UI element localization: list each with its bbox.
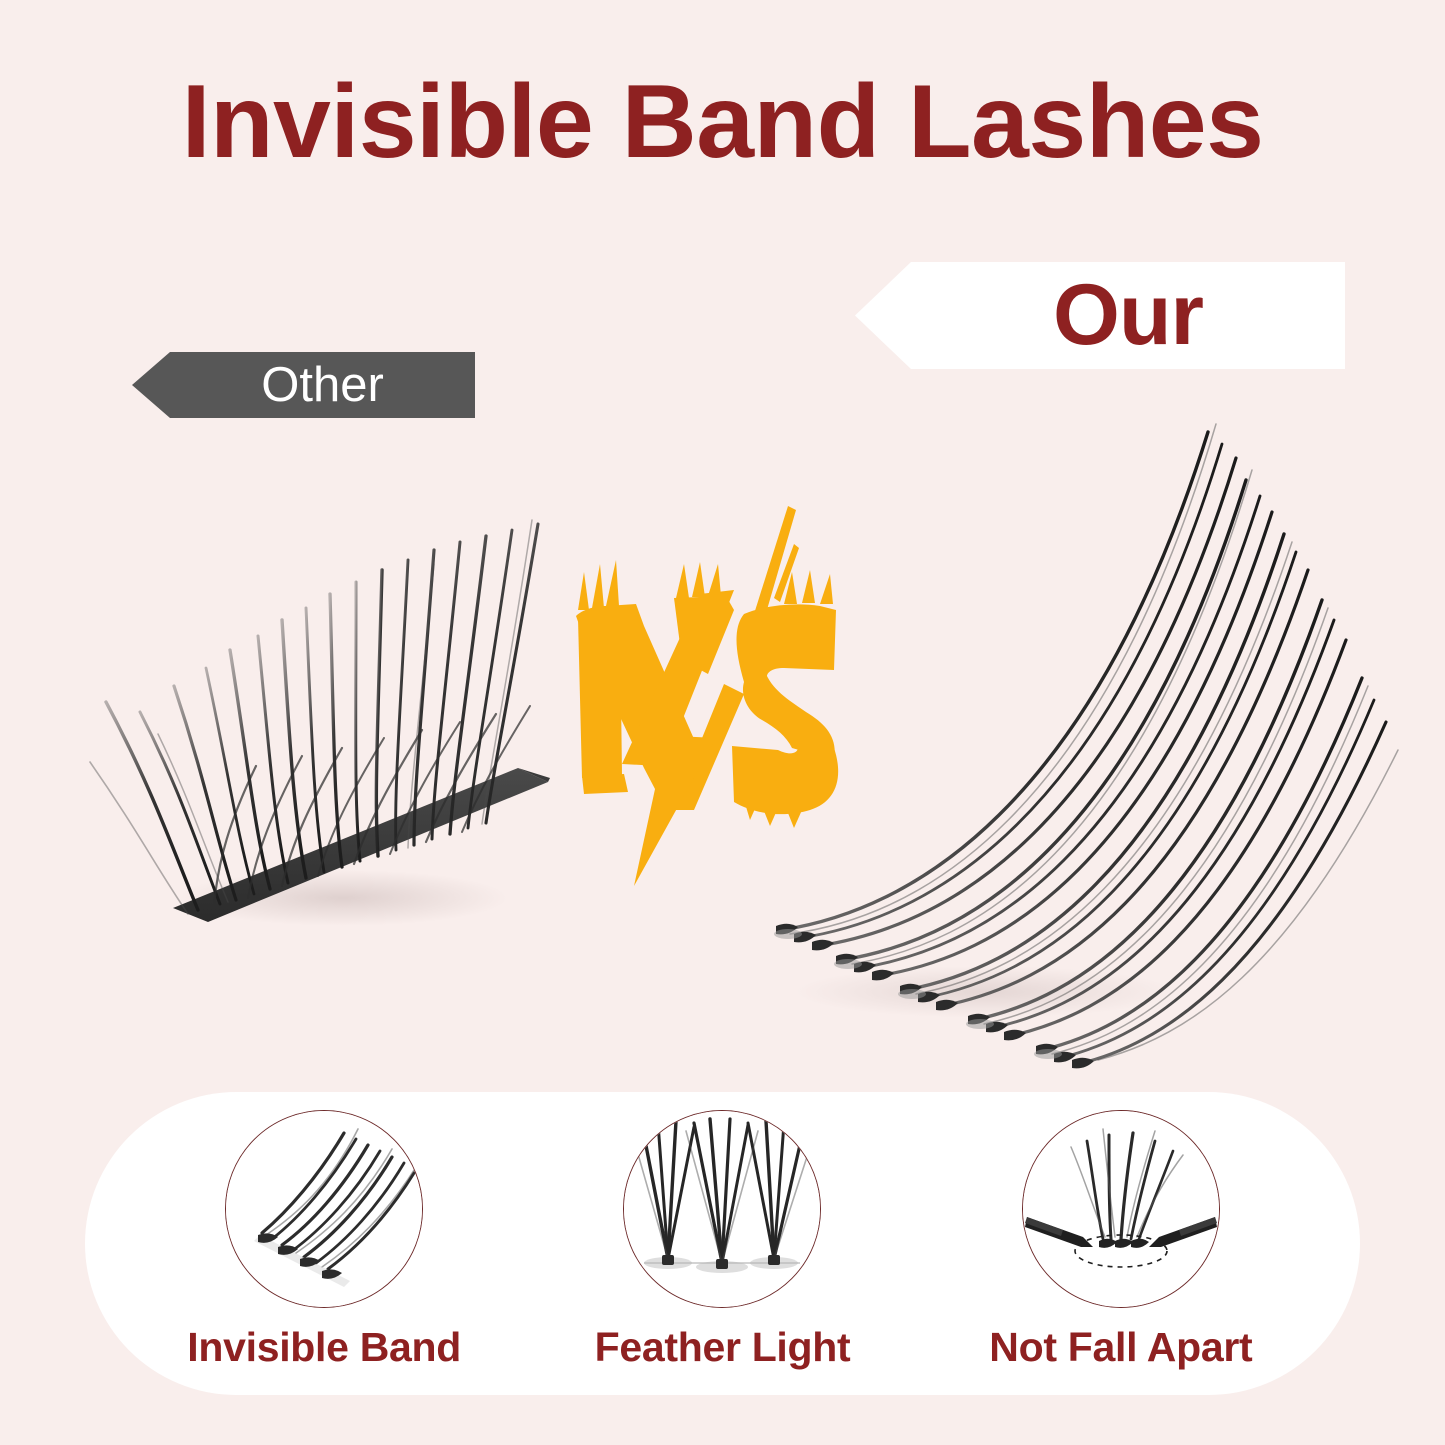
banner-our: Our bbox=[855, 262, 1345, 369]
product-image-other-lashes bbox=[78, 490, 578, 970]
banner-other: Other bbox=[132, 352, 475, 418]
versus-badge bbox=[548, 498, 878, 888]
feature-invisible-band: Invisible Band bbox=[169, 1092, 479, 1371]
lash-cluster-light-icon bbox=[623, 1110, 821, 1308]
feature-label: Feather Light bbox=[595, 1324, 851, 1371]
feature-feather-light: Feather Light bbox=[567, 1092, 877, 1371]
feature-label: Not Fall Apart bbox=[989, 1324, 1252, 1371]
infographic-canvas: Invisible Band Lashes Other Our bbox=[0, 0, 1445, 1445]
vs-icon bbox=[548, 498, 878, 888]
banner-other-label: Other bbox=[223, 357, 384, 413]
feature-label: Invisible Band bbox=[187, 1324, 461, 1371]
tweezers-holding-cluster-icon bbox=[1022, 1110, 1220, 1308]
feature-not-fall-apart: Not Fall Apart bbox=[966, 1092, 1276, 1371]
page-title: Invisible Band Lashes bbox=[0, 68, 1445, 177]
banner-our-label: Our bbox=[997, 266, 1203, 365]
lash-band-closeup-icon bbox=[225, 1110, 423, 1308]
features-card: Invisible Band bbox=[85, 1092, 1360, 1395]
